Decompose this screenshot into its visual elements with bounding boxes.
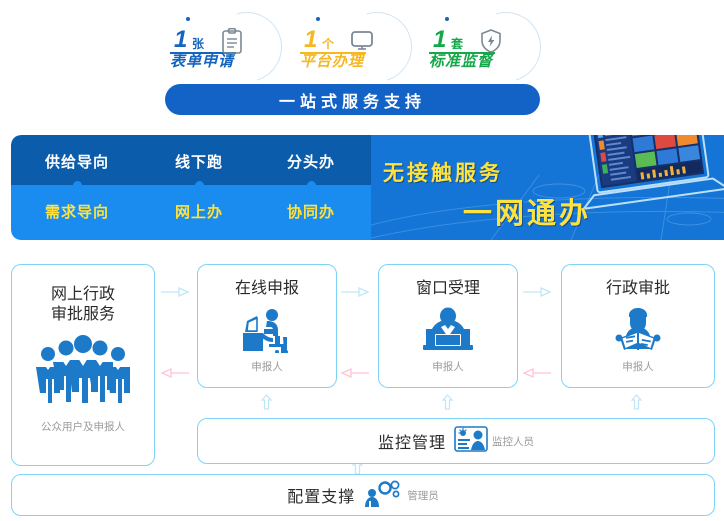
bar-title: 配置支撑 bbox=[287, 483, 355, 507]
badge-number: 1 bbox=[174, 28, 186, 52]
banner-old-2: 线下跑 bbox=[139, 151, 259, 172]
clipboard-icon bbox=[220, 28, 244, 54]
badge-unit: 个 bbox=[322, 38, 334, 50]
arc-decoration bbox=[330, 0, 425, 94]
flow-card-online-approval-service[interactable]: 网上行政 审批服务 bbox=[11, 264, 155, 466]
flow-card-online-declaration[interactable]: 在线申报 bbox=[197, 264, 337, 388]
badge-row: 1 张 表单申请 1 个 平台办理 bbox=[168, 8, 558, 86]
arrow-backward-3 bbox=[522, 366, 552, 378]
card-caption: 申报人 bbox=[379, 359, 517, 374]
person-at-counter-icon bbox=[419, 307, 477, 353]
people-group-icon bbox=[30, 335, 136, 403]
badge-form-application: 1 张 表单申请 bbox=[168, 8, 286, 86]
laptop-dashboard-icon bbox=[576, 135, 724, 217]
banner-new-state-row: 需求导向 网上办 协同办 bbox=[11, 185, 371, 240]
card-title: 行政审批 bbox=[562, 279, 714, 299]
shield-bolt-icon bbox=[479, 28, 503, 54]
person-reading-icon bbox=[610, 307, 666, 353]
card-title: 网上行政 审批服务 bbox=[12, 285, 154, 325]
arrow-backward-1 bbox=[160, 366, 190, 378]
bar-monitoring-management[interactable]: 监控管理 监控人员 bbox=[197, 418, 715, 464]
badge-standard-supervision: 1 套 标准监督 bbox=[427, 8, 545, 86]
banner-connector-dot-2 bbox=[195, 181, 204, 190]
person-at-desk-icon bbox=[239, 307, 295, 353]
arc-dot bbox=[316, 17, 320, 21]
banner-right-panel: 无接触服务 一网通办 bbox=[371, 135, 724, 240]
flow-card-administrative-approval[interactable]: 行政审批 bbox=[561, 264, 715, 388]
banner-connector-dot-3 bbox=[307, 181, 316, 190]
badge-unit: 套 bbox=[451, 38, 463, 50]
arc-dot bbox=[445, 17, 449, 21]
banner-connector-dot-1 bbox=[73, 181, 82, 190]
banner-left-panel: 供给导向 线下跑 分头办 需求导向 网上办 协同办 bbox=[11, 135, 371, 240]
badge-subtitle: 表单申请 bbox=[170, 54, 234, 69]
arc-decoration bbox=[200, 0, 295, 94]
arrow-forward-1 bbox=[160, 285, 190, 297]
banner-old-3: 分头办 bbox=[251, 151, 371, 172]
bar-configuration-support[interactable]: 配置支撑 管理员 bbox=[11, 474, 715, 516]
arrow-up-2 bbox=[442, 394, 453, 410]
bar-title: 监控管理 bbox=[378, 429, 446, 453]
one-stop-service-pill[interactable]: 一站式服务支持 bbox=[165, 84, 540, 115]
badge-number: 1 bbox=[304, 28, 316, 52]
badge-number: 1 bbox=[433, 28, 445, 52]
badge-platform-handling: 1 个 平台办理 bbox=[298, 8, 416, 86]
banner-headline-primary: 无接触服务 bbox=[383, 157, 503, 187]
transformation-banner: 供给导向 线下跑 分头办 需求导向 网上办 协同办 bbox=[0, 135, 724, 240]
banner-new-2: 网上办 bbox=[139, 201, 259, 222]
monitor-icon bbox=[350, 28, 374, 54]
arc-dot bbox=[186, 17, 190, 21]
card-caption: 公众用户及申报人 bbox=[12, 419, 154, 434]
banner-old-1: 供给导向 bbox=[17, 151, 137, 172]
badge-subtitle: 标准监督 bbox=[429, 54, 493, 69]
bar-caption: 监控人员 bbox=[492, 434, 534, 449]
banner-new-3: 协同办 bbox=[251, 201, 371, 222]
arrow-backward-2 bbox=[340, 366, 370, 378]
arrow-forward-3 bbox=[522, 285, 552, 297]
person-gears-icon bbox=[363, 479, 403, 512]
card-title: 在线申报 bbox=[198, 279, 336, 299]
monitor-badge-icon bbox=[454, 426, 488, 457]
arrow-up-3 bbox=[631, 394, 642, 410]
flow-card-window-acceptance[interactable]: 窗口受理 申报人 bbox=[378, 264, 518, 388]
badge-subtitle: 平台办理 bbox=[300, 54, 364, 69]
bar-caption: 管理员 bbox=[407, 488, 439, 503]
arrow-up-1 bbox=[261, 394, 272, 410]
card-caption: 申报人 bbox=[562, 359, 714, 374]
card-caption: 申报人 bbox=[198, 359, 336, 374]
banner-old-state-row: 供给导向 线下跑 分头办 bbox=[11, 135, 371, 185]
banner-headline-secondary: 一网通办 bbox=[463, 190, 591, 232]
card-title: 窗口受理 bbox=[379, 279, 517, 299]
arrow-forward-2 bbox=[340, 285, 370, 297]
arc-decoration bbox=[459, 0, 554, 94]
badge-unit: 张 bbox=[192, 38, 204, 50]
diagram-canvas: 1 张 表单申请 1 个 平台办理 bbox=[0, 0, 724, 521]
banner-new-1: 需求导向 bbox=[17, 201, 137, 222]
